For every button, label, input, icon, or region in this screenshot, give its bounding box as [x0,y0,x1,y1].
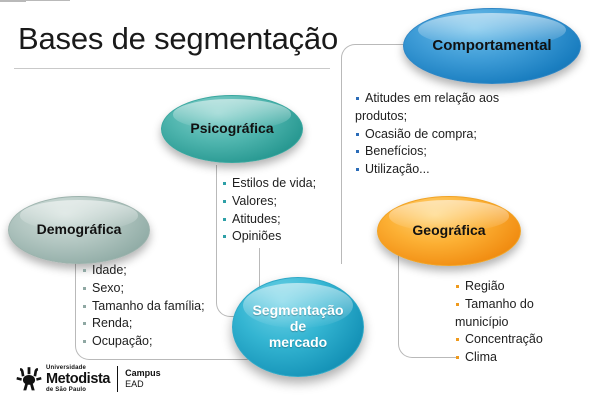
connector-geografica [398,250,458,358]
list-item: Tamanho do [455,296,585,314]
logo-line-metodista: Metodista [46,372,110,387]
list-item: município [455,314,585,332]
title-underline-divider [14,68,330,69]
list-item: Renda; [82,315,257,333]
metodista-wordmark: Universidade Metodista de São Paulo [46,365,110,394]
node-geografica-label: Geográfica [412,223,485,239]
metodista-cross-icon [16,366,42,392]
list-item: Idade; [82,262,257,280]
logo-divider [117,366,118,392]
campus-label-line-1: Campus [125,368,161,379]
footer-logo: Universidade Metodista de São Paulo Camp… [16,363,161,395]
list-item: Ocasião de compra; [355,126,540,144]
slide-canvas: Bases de segmentação Comportamental Psic… [0,0,600,403]
node-psicografica-label: Psicográfica [190,121,273,137]
node-segmentacao-line-1: Segmentação [252,302,343,318]
node-psicografica[interactable]: Psicográfica [161,95,303,163]
campus-label-line-2: EAD [125,379,161,390]
list-item: Benefícios; [355,143,540,161]
list-item: Tamanho da família; [82,298,257,316]
bullet-list-psicografica: Estilos de vida; Valores; Atitudes; Opin… [222,175,342,246]
list-item: produtos; [355,108,540,126]
list-item: Clima [455,349,585,367]
node-comportamental-label: Comportamental [432,38,551,55]
list-item: Concentração [455,331,585,349]
node-geografica[interactable]: Geográfica [377,196,521,266]
logo-line-de-sao-paulo: de São Paulo [46,387,110,393]
list-item: Ocupação; [82,333,257,351]
list-item: Atitudes em relação aos [355,90,540,108]
node-comportamental[interactable]: Comportamental [403,8,581,84]
list-item: Utilização... [355,161,540,179]
list-item: Valores; [222,193,342,211]
connector-comportamental-stub [0,1,26,2]
list-item: Região [455,278,585,296]
node-segmentacao-line-2: de [290,318,306,334]
list-item: Opiniões [222,228,342,246]
campus-ead-label: Campus EAD [125,368,161,391]
list-item: Atitudes; [222,211,342,229]
list-item: Estilos de vida; [222,175,342,193]
node-demografica-label: Demográfica [37,222,122,238]
node-demografica[interactable]: Demográfica [8,196,150,264]
bullet-list-demografica: Idade; Sexo; Tamanho da família; Renda; … [82,262,257,351]
bullet-list-geografica: Região Tamanho do município Concentração… [455,278,585,367]
page-title: Bases de segmentação [18,21,338,57]
node-segmentacao-label: Segmentação de mercado [252,303,343,350]
logo-line-universidade: Universidade [46,365,110,371]
bullet-list-comportamental: Atitudes em relação aos produtos; Ocasiã… [355,90,540,179]
node-segmentacao-line-3: mercado [269,334,327,350]
list-item: Sexo; [82,280,257,298]
